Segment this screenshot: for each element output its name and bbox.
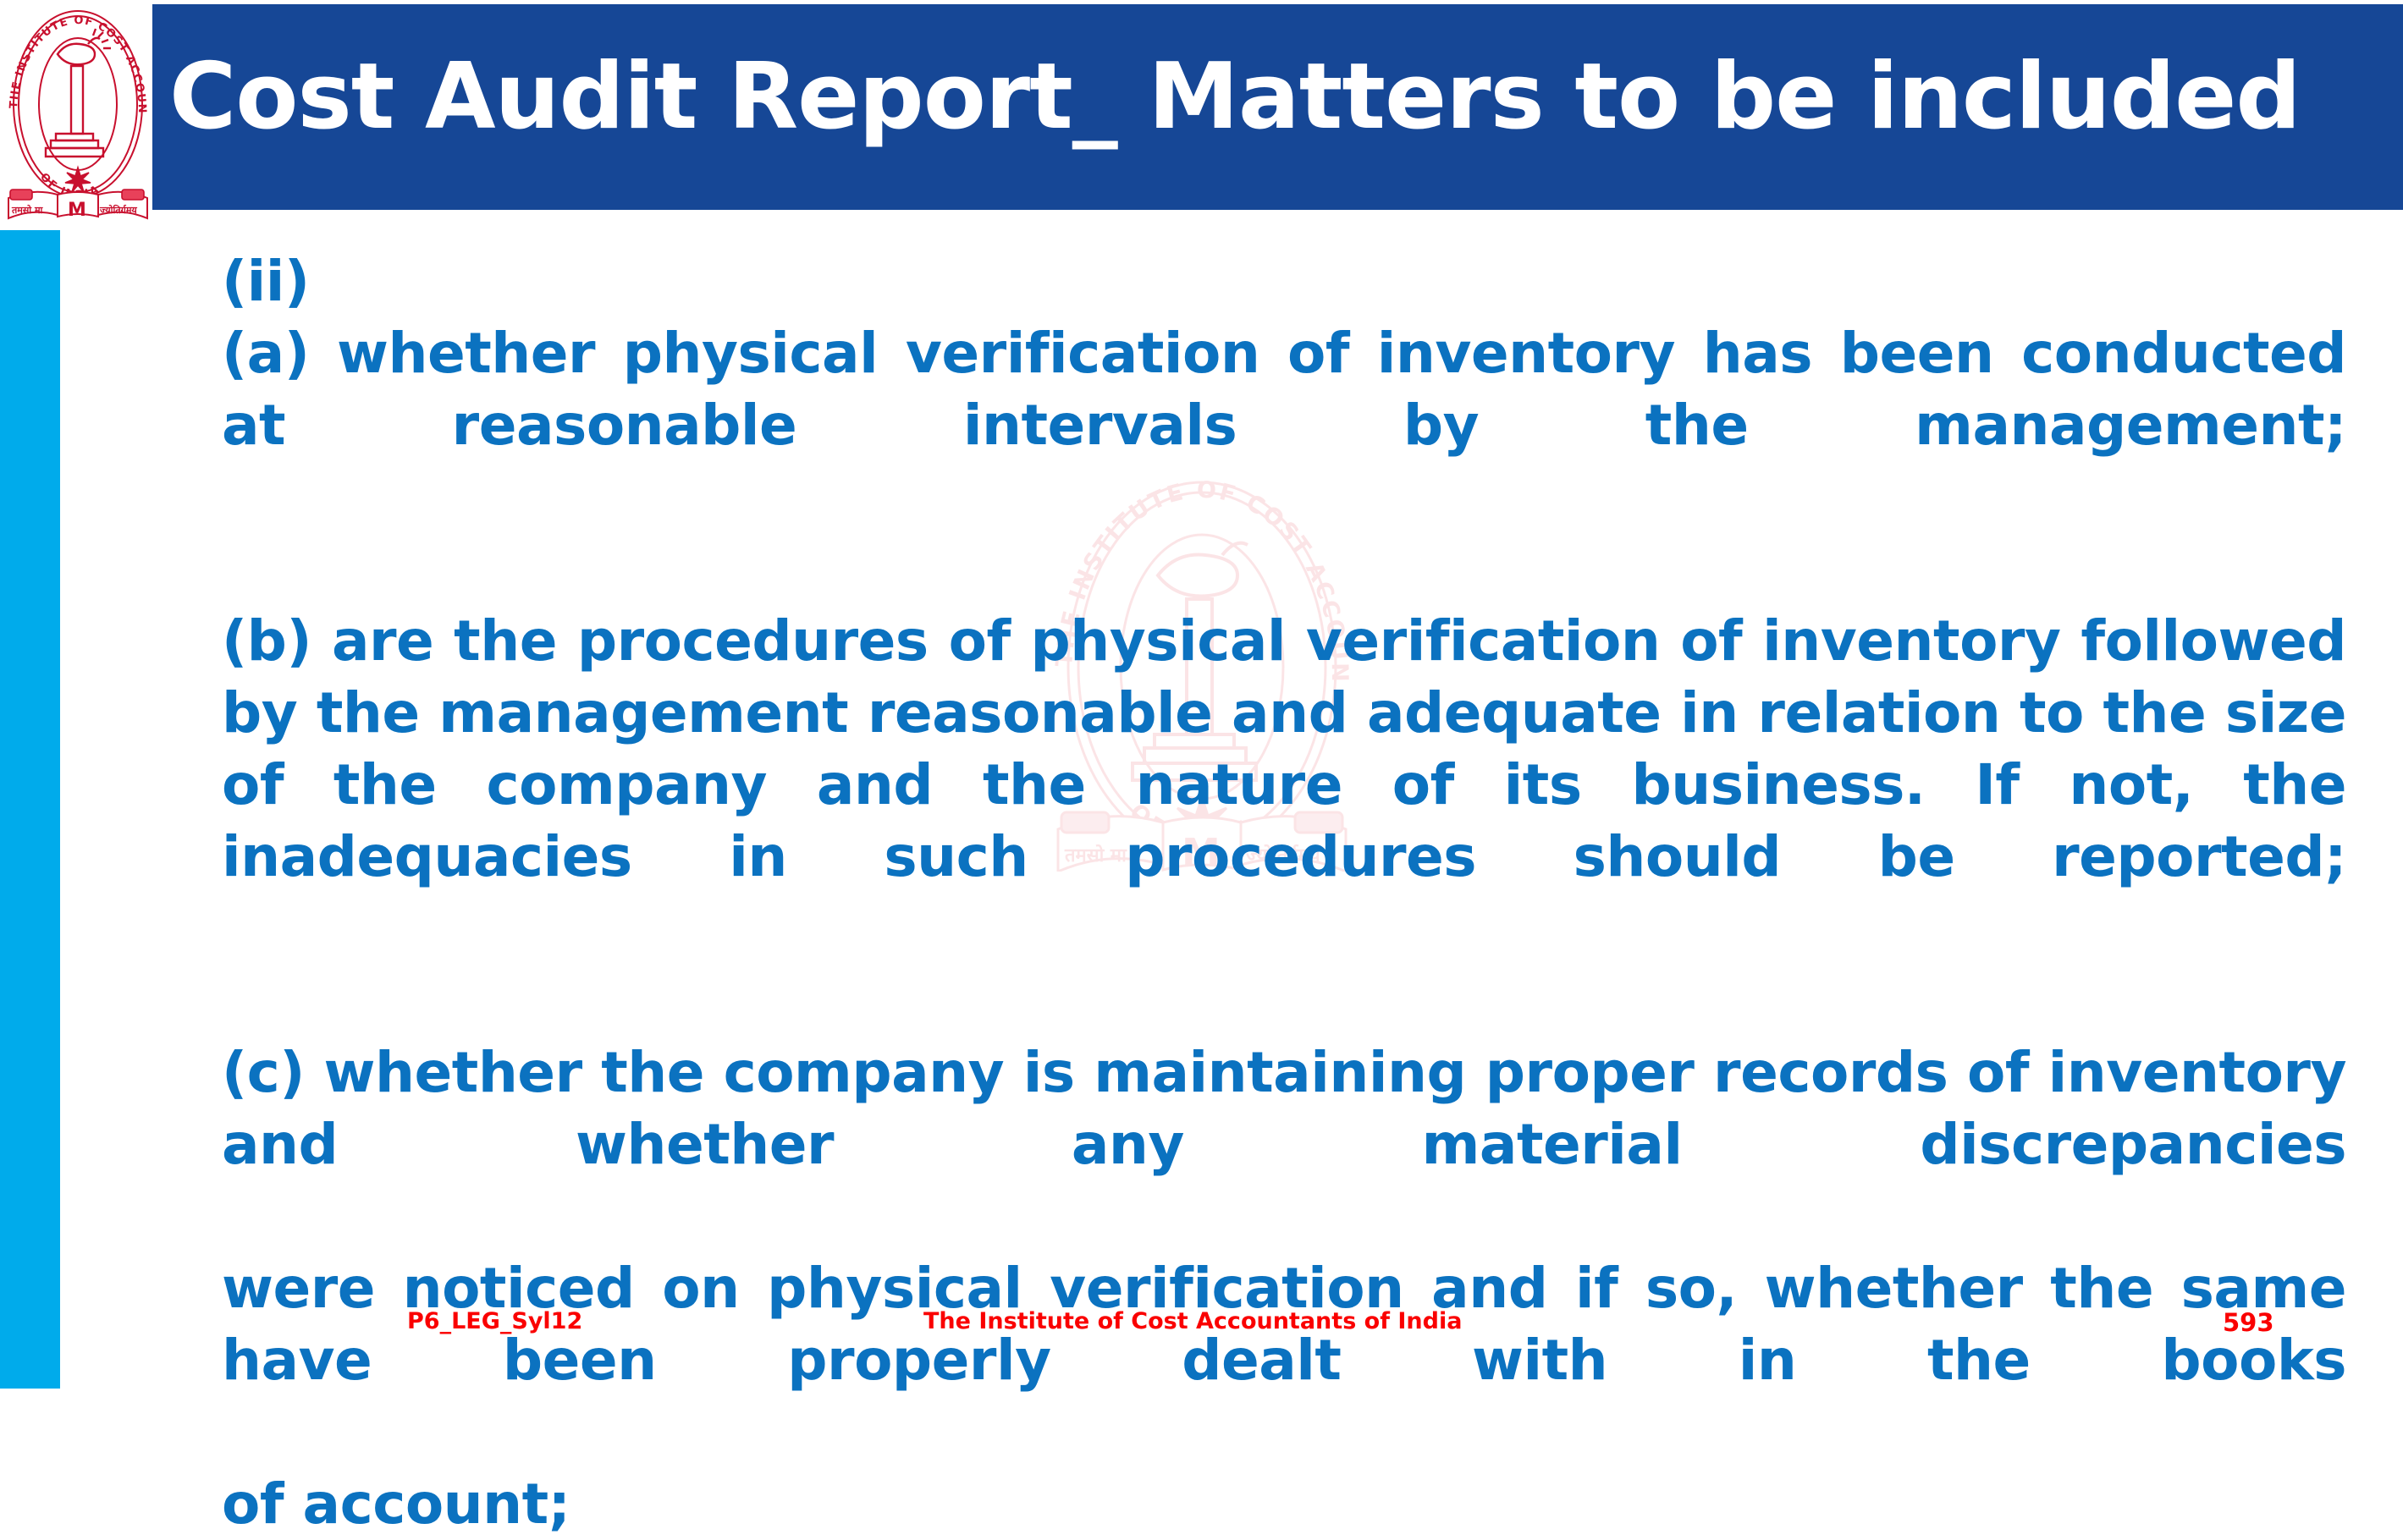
svg-text:तमसो मा: तमसो मा	[11, 204, 44, 216]
paragraph-a: (a) whether physical verification of inv…	[222, 317, 2346, 533]
paragraph-c-line2: were noticed on physical verification an…	[222, 1252, 2346, 1468]
left-accent-strip	[0, 230, 60, 1389]
footer-institute-name: The Institute of Cost Accountants of Ind…	[923, 1308, 1462, 1334]
footer-syllabus-code: P6_LEG_Syl12	[407, 1308, 582, 1334]
slide-canvas: Cost Audit Report_ Matters to be include…	[0, 0, 2403, 1389]
slide-footer: P6_LEG_Syl12 The Institute of Cost Accou…	[60, 1308, 2403, 1347]
svg-text:ज्योतिर्गमय: ज्योतिर्गमय	[99, 204, 137, 216]
paragraph-gap-2	[222, 965, 2346, 1037]
institute-logo: THE INSTITUTE OF COST ACCOUNTANTS OF IND…	[5, 2, 151, 220]
clause-label: (ii)	[222, 245, 2346, 317]
paragraph-b: (b) are the procedures of physical verif…	[222, 605, 2346, 965]
page-title: Cost Audit Report_ Matters to be include…	[169, 17, 2391, 178]
paragraph-gap-1	[222, 533, 2346, 605]
paragraph-c-line3: of account;	[222, 1468, 2346, 1540]
paragraph-c-line1: (c) whether the company is maintaining p…	[222, 1037, 2346, 1252]
footer-page-number: 593	[2223, 1308, 2274, 1337]
svg-text:M: M	[68, 200, 86, 220]
svg-text:THE INSTITUTE OF COST ACCOUNTA: THE INSTITUTE OF COST ACCOUNTANTS	[5, 2, 148, 114]
